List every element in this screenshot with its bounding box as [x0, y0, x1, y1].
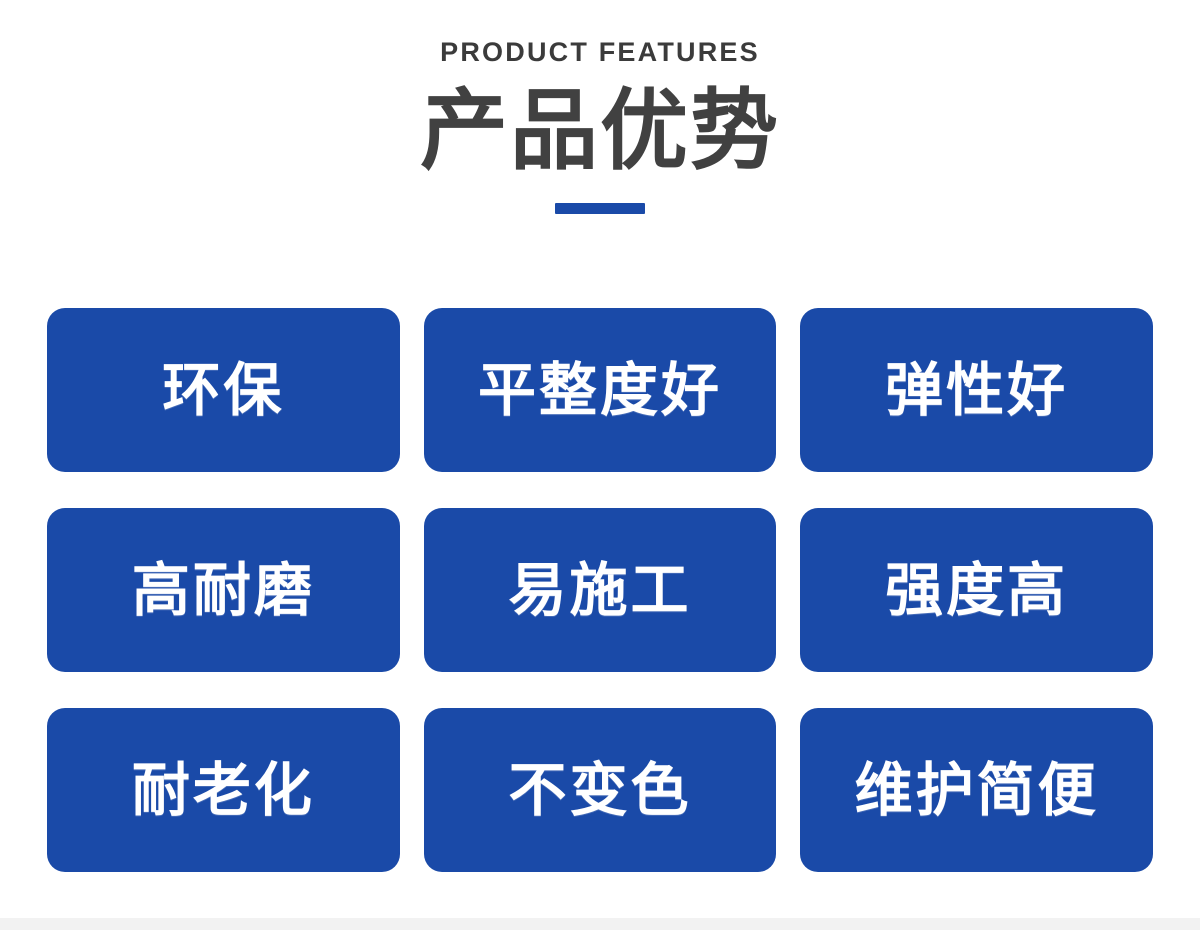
feature-card-8[interactable]: 不变色 — [424, 708, 777, 872]
section-eyebrow: PRODUCT FEATURES — [0, 38, 1200, 66]
feature-label: 环保 — [162, 361, 284, 419]
feature-label: 不变色 — [508, 761, 691, 819]
feature-card-2[interactable]: 平整度好 — [424, 308, 777, 472]
product-features-section: PRODUCT FEATURES 产品优势 环保 平整度好 弹性好 高耐磨 易施… — [0, 0, 1200, 930]
feature-grid: 环保 平整度好 弹性好 高耐磨 易施工 强度高 耐老化 不变色 维护简便 — [47, 308, 1153, 872]
feature-card-6[interactable]: 强度高 — [800, 508, 1153, 672]
feature-label: 平整度好 — [478, 361, 722, 419]
feature-label: 维护简便 — [855, 761, 1099, 819]
title-divider — [0, 203, 1200, 215]
page-title: 产品优势 — [0, 82, 1200, 181]
section-header: PRODUCT FEATURES 产品优势 — [0, 0, 1200, 215]
feature-label: 强度高 — [885, 561, 1068, 619]
feature-card-4[interactable]: 高耐磨 — [47, 508, 400, 672]
feature-card-1[interactable]: 环保 — [47, 308, 400, 472]
feature-card-7[interactable]: 耐老化 — [47, 708, 400, 872]
feature-card-9[interactable]: 维护简便 — [800, 708, 1153, 872]
feature-label: 弹性好 — [885, 361, 1068, 419]
feature-card-3[interactable]: 弹性好 — [800, 308, 1153, 472]
bottom-divider-strip — [0, 918, 1200, 930]
accent-bar — [555, 203, 645, 214]
feature-label: 耐老化 — [132, 761, 315, 819]
feature-card-5[interactable]: 易施工 — [424, 508, 777, 672]
feature-label: 高耐磨 — [132, 561, 315, 619]
feature-label: 易施工 — [508, 561, 691, 619]
